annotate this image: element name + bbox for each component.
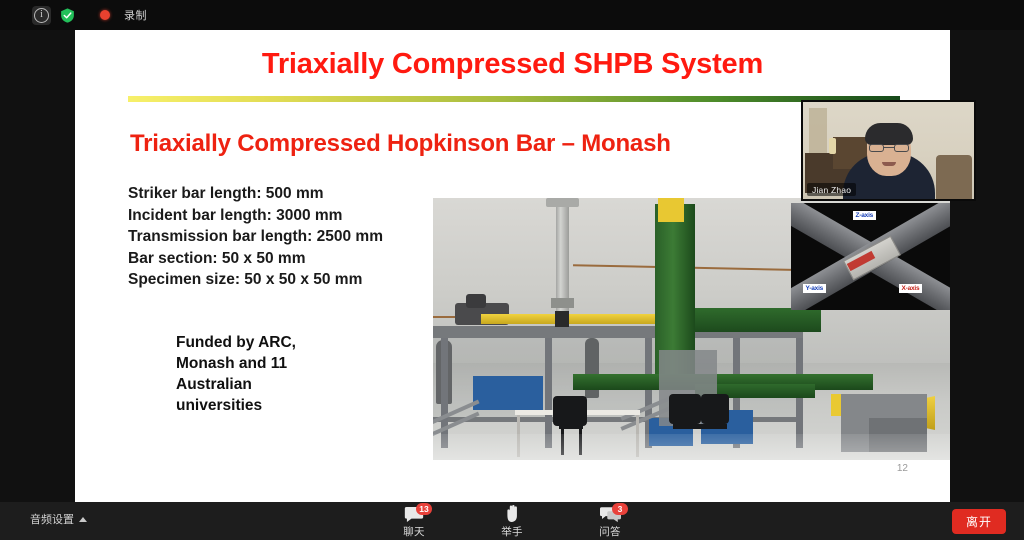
chat-button[interactable]: 13 聊天 xyxy=(387,504,441,539)
meeting-top-bar: i 录制 xyxy=(0,0,1024,30)
recording-label: 录制 xyxy=(124,7,147,23)
audio-settings-label: 音频设置 xyxy=(30,511,74,527)
video-chair xyxy=(936,155,972,199)
meeting-control-bar: 音频设置 13 聊天 举手 xyxy=(0,502,1024,540)
video-lamp xyxy=(829,138,836,154)
qa-unread-badge: 3 xyxy=(612,503,628,515)
funding-note: Funded by ARC, Monash and 11 Australian … xyxy=(176,332,326,416)
qa-button[interactable]: 3 问答 xyxy=(583,504,637,539)
spec-line: Striker bar length: 500 mm xyxy=(128,183,383,205)
specification-list: Striker bar length: 500 mm Incident bar … xyxy=(128,183,383,291)
raise-hand-label: 举手 xyxy=(501,524,523,539)
slide-number: 12 xyxy=(897,463,908,474)
info-icon[interactable]: i xyxy=(32,6,51,25)
leave-meeting-button[interactable]: 离开 xyxy=(952,509,1006,534)
raise-hand-button[interactable]: 举手 xyxy=(485,504,539,539)
axis-label-x: X-axis xyxy=(899,284,922,293)
chat-unread-badge: 13 xyxy=(416,503,432,515)
chevron-up-icon[interactable] xyxy=(79,517,87,522)
participant-glasses-bridge xyxy=(884,147,894,148)
shield-encryption-icon[interactable] xyxy=(58,6,77,25)
slide-subtitle: Triaxially Compressed Hopkinson Bar – Mo… xyxy=(130,130,671,158)
title-divider-rule xyxy=(128,96,900,102)
participant-hair xyxy=(865,123,913,145)
participant-glasses-right xyxy=(894,144,909,152)
spec-line: Incident bar length: 3000 mm xyxy=(128,205,383,227)
center-tool-group: 13 聊天 举手 3 问答 xyxy=(387,504,637,539)
participant-video-tile[interactable]: Jian Zhao xyxy=(801,100,976,201)
participant-name-label: Jian Zhao xyxy=(807,183,856,196)
slide-title: Triaxially Compressed SHPB System xyxy=(75,48,950,81)
audio-settings-button[interactable]: 音频设置 xyxy=(30,511,87,527)
participant-glasses-left xyxy=(869,144,884,152)
spec-line: Bar section: 50 x 50 mm xyxy=(128,248,383,270)
spec-line: Transmission bar length: 2500 mm xyxy=(128,226,383,248)
axis-label-z: Z-axis xyxy=(853,211,876,220)
axis-label-y: Y-axis xyxy=(803,284,826,293)
raise-hand-icon xyxy=(504,504,521,523)
spec-line: Specimen size: 50 x 50 x 50 mm xyxy=(128,269,383,291)
recording-dot-icon xyxy=(100,10,110,20)
zoom-meeting-window: i 录制 Triaxially Compressed SHPB System T… xyxy=(0,0,1024,540)
qa-label: 问答 xyxy=(599,524,621,539)
participant-mouth xyxy=(882,162,896,166)
triaxial-specimen-inset-photo: Z-axis Y-axis X-axis xyxy=(791,203,950,310)
left-letterbox xyxy=(0,30,75,502)
chat-label: 聊天 xyxy=(403,524,425,539)
